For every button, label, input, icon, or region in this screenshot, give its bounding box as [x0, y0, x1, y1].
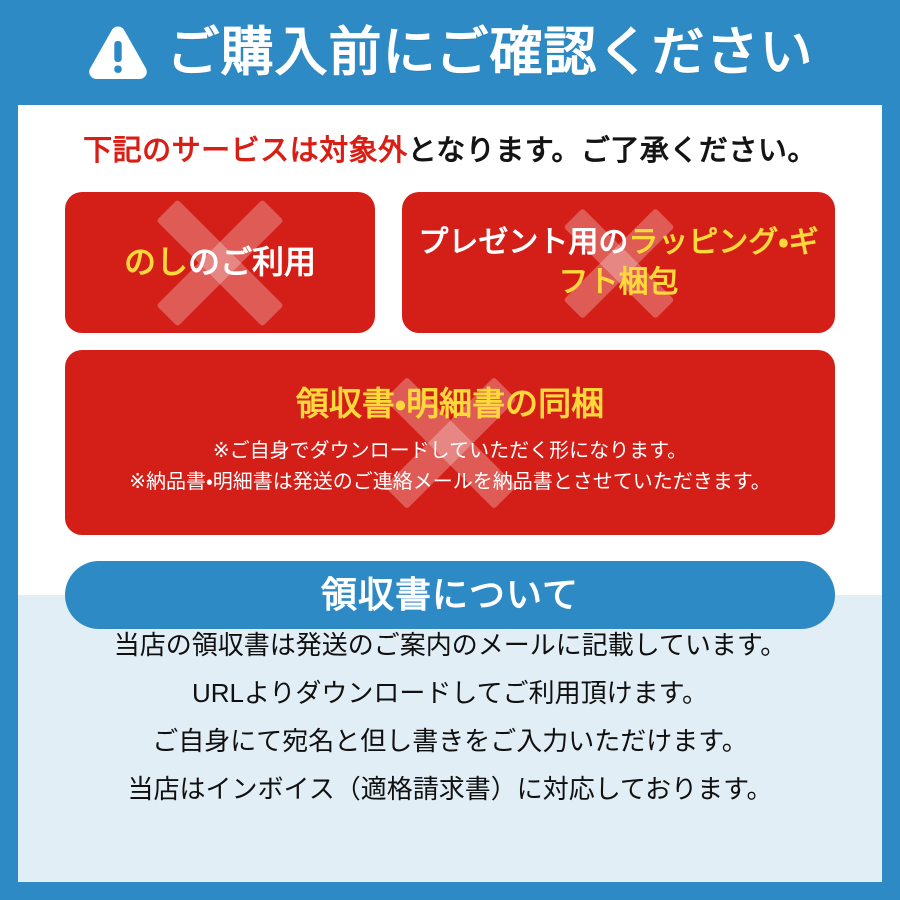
exclusion-card-row: のしのご利用 プレゼント用のラッピング・ギフト梱包: [38, 192, 862, 333]
exclusion-card-noshi-text: のしのご利用: [110, 241, 330, 283]
receipt-info-panel: 当店の領収書は発送のご案内のメールに記載しています。 URLよりダウンロードして…: [18, 595, 882, 882]
exclusion-card-receipt-note-2: ※納品書・明細書は発送のご連絡メールを納品書とさせていただきます。: [129, 467, 771, 498]
exclusion-card-receipt-enclosure: 領収書・明細書の同梱 ※ご自身でダウンロードしていただく形になります。 ※納品書…: [65, 350, 835, 535]
receipt-info-line: URLよりダウンロードしてご利用頂けます。: [58, 669, 842, 717]
page-title: ご購入前にご確認ください: [167, 26, 814, 79]
exclusion-card-receipt-note-1: ※ご自身でダウンロードしていただく形になります。: [213, 436, 687, 467]
content-frame: 下記のサービスは対象外となります。ご了承ください。 のしのご利用: [18, 105, 882, 882]
receipt-heading-pill: 領収書について: [65, 561, 835, 629]
subtitle-emphasis: 下記のサービスは対象外: [83, 135, 408, 167]
exclusion-card-gift-wrapping: プレゼント用のラッピング・ギフト梱包: [402, 192, 835, 333]
exclusions-section: 下記のサービスは対象外となります。ご了承ください。 のしのご利用: [18, 105, 882, 629]
subtitle-rest: となります。ご了承ください。: [408, 135, 817, 167]
receipt-info-line: 当店はインボイス（適格請求書）に対応しております。: [58, 765, 842, 813]
receipt-heading-label: 領収書について: [321, 577, 579, 613]
banner-header: ご購入前にご確認ください: [0, 0, 900, 105]
warning-triangle-icon: [87, 24, 149, 82]
exclusion-card-gift-wrapping-text: プレゼント用のラッピング・ギフト梱包: [402, 223, 835, 302]
notice-banner: ご購入前にご確認ください 下記のサービスは対象外となります。ご了承ください。 の…: [0, 0, 900, 900]
receipt-heading-wrap: 領収書について: [38, 535, 862, 629]
receipt-info-line: ご自身にて宛名と但し書きをご入力いただけます。: [58, 717, 842, 765]
exclusion-card-noshi-highlight: のし: [124, 244, 188, 280]
exclusion-card-noshi-plain: のご利用: [188, 244, 316, 280]
exclusion-card-receipt-title: 領収書・明細書の同梱: [296, 387, 604, 420]
exclusions-subtitle: 下記のサービスは対象外となります。ご了承ください。: [38, 105, 862, 192]
exclusion-card-noshi: のしのご利用: [65, 192, 375, 333]
exclusion-card-gift-wrapping-plain: プレゼント用の: [418, 226, 628, 259]
